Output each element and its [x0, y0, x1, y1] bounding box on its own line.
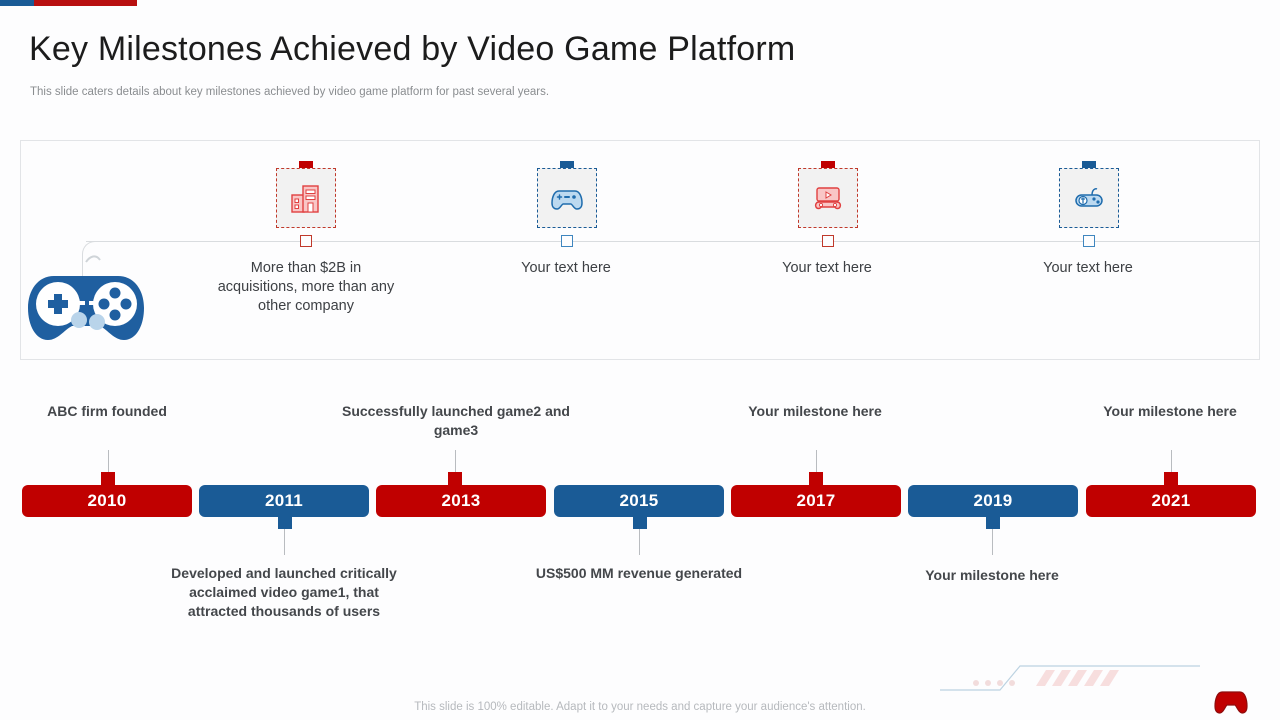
timeline-label-2015: US$500 MM revenue generated: [524, 564, 754, 583]
node-stub: [300, 235, 312, 247]
timeline-marker-2010: [101, 472, 115, 486]
milestone-node-3-text: Your text here: [732, 259, 922, 278]
vr-console-icon: [798, 168, 858, 228]
timeline-label-2021: Your milestone here: [1055, 402, 1280, 421]
milestone-node-3[interactable]: [798, 168, 858, 228]
timeline-bar-2017[interactable]: 2017: [731, 485, 901, 517]
page-subtitle: This slide caters details about key mile…: [30, 86, 549, 98]
timeline-marker-2013: [448, 472, 462, 486]
timeline-marker-2021: [1164, 472, 1178, 486]
timeline-stem: [992, 529, 993, 555]
timeline-marker-2015: [633, 515, 647, 529]
timeline-bar-2019[interactable]: 2019: [908, 485, 1078, 517]
timeline-label-2011: Developed and launched critically acclai…: [169, 564, 399, 621]
slide-canvas: Key Milestones Achieved by Video Game Pl…: [0, 0, 1280, 720]
timeline-label-2017: Your milestone here: [700, 402, 930, 421]
timeline-stem: [816, 450, 817, 472]
timeline-bar-2013[interactable]: 2013: [376, 485, 546, 517]
node-stub: [822, 235, 834, 247]
milestone-node-1-text: More than $2B in acquisitions, more than…: [211, 259, 401, 316]
gamepad-icon: [537, 168, 597, 228]
milestone-node-4[interactable]: [1059, 168, 1119, 228]
timeline-stem: [639, 529, 640, 555]
building-icon: [276, 168, 336, 228]
timeline-label-2013: Successfully launched game2 and game3: [341, 402, 571, 440]
node-stub: [561, 235, 573, 247]
milestone-node-2[interactable]: [537, 168, 597, 228]
timeline-label-2010: ABC firm founded: [0, 402, 222, 421]
timeline-bar-2015[interactable]: 2015: [554, 485, 724, 517]
gamepad-icon: [24, 254, 148, 346]
timeline-stem: [455, 450, 456, 472]
timeline-marker-2019: [986, 515, 1000, 529]
timeline-stem: [108, 450, 109, 472]
topbar-red-accent: [34, 0, 137, 6]
node-stub: [1083, 235, 1095, 247]
topbar-blue-accent: [0, 0, 34, 6]
page-title: Key Milestones Achieved by Video Game Pl…: [29, 30, 795, 69]
footer-note: This slide is 100% editable. Adapt it to…: [0, 701, 1280, 713]
milestone-node-2-text: Your text here: [471, 259, 661, 278]
timeline-marker-2011: [278, 515, 292, 529]
milestone-node-4-text: Your text here: [993, 259, 1183, 278]
timeline-bar-2010[interactable]: 2010: [22, 485, 192, 517]
timeline-stem: [1171, 450, 1172, 472]
timeline-marker-2017: [809, 472, 823, 486]
timeline-stem: [284, 529, 285, 555]
timeline-label-2019: Your milestone here: [877, 566, 1107, 585]
timeline-bar-2011[interactable]: 2011: [199, 485, 369, 517]
milestone-node-1[interactable]: [276, 168, 336, 228]
retro-controller-icon: [1059, 168, 1119, 228]
timeline-bar-2021[interactable]: 2021: [1086, 485, 1256, 517]
stripes-decoration: [940, 650, 1200, 700]
